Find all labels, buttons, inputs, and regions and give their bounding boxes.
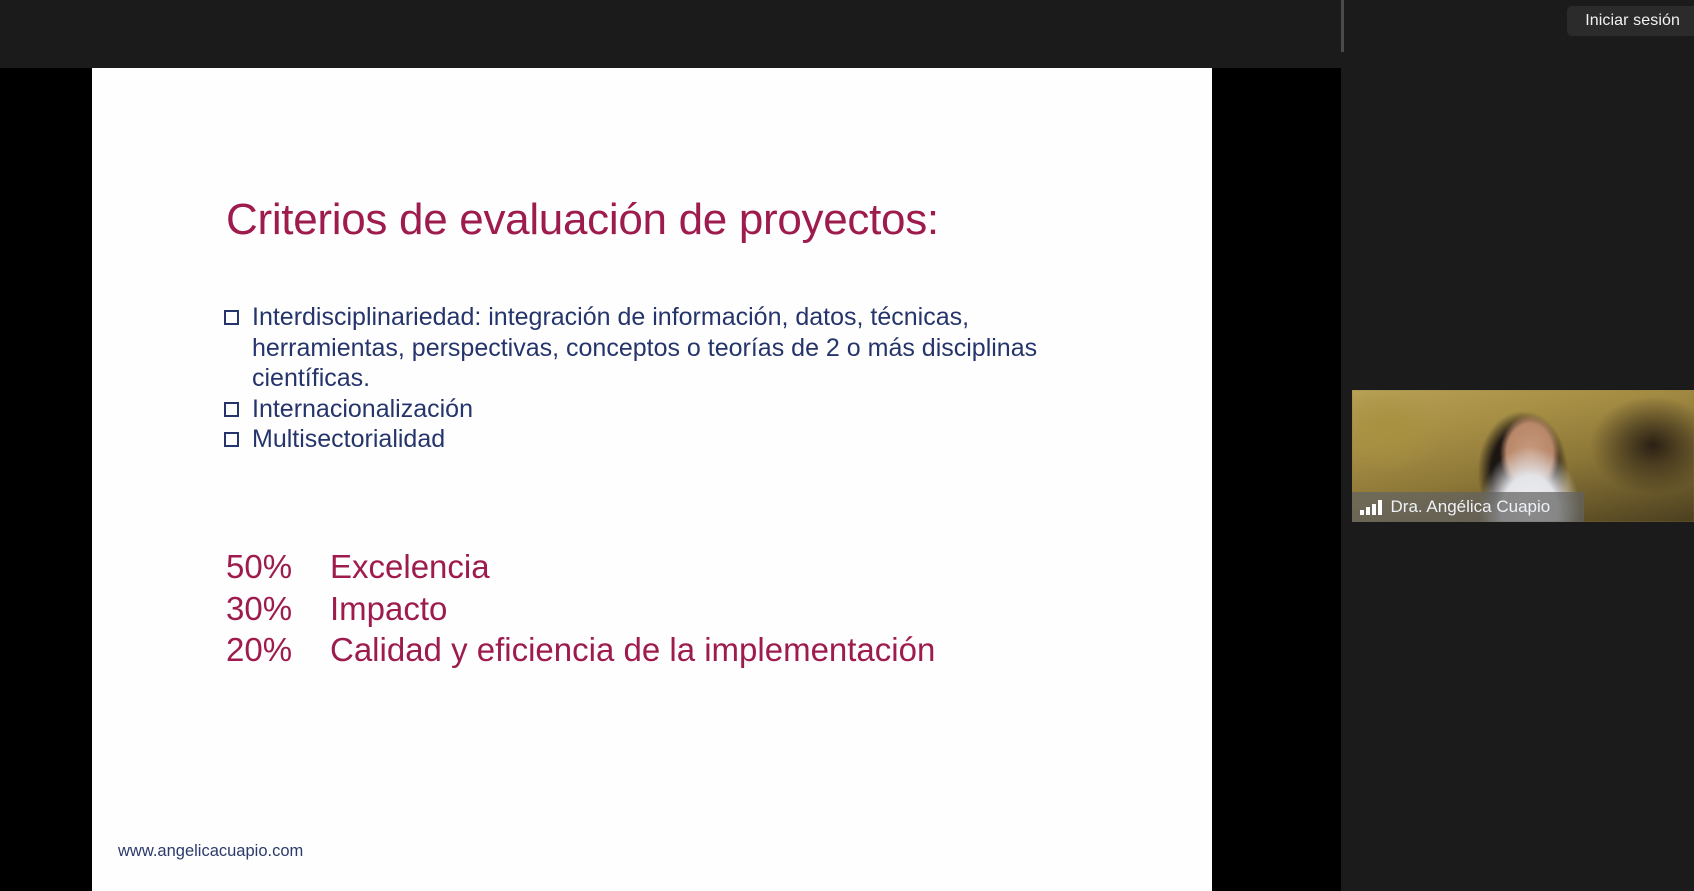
slide-footer-url: www.angelicacuapio.com xyxy=(118,842,303,861)
slide-weight-list: 50% Excelencia 30% Impacto 20% Calidad y… xyxy=(226,546,935,671)
slide-bullet-list: Interdisciplinariedad: integración de in… xyxy=(224,302,1054,455)
checkbox-square-icon xyxy=(224,402,239,417)
weight-label: Impacto xyxy=(330,588,935,630)
checkbox-square-icon xyxy=(224,310,239,325)
list-item-label: Interdisciplinariedad: integración de in… xyxy=(252,302,1054,394)
weight-label: Excelencia xyxy=(330,546,935,588)
weight-label: Calidad y eficiencia de la implementació… xyxy=(330,629,935,671)
participant-name-label: Dra. Angélica Cuapio xyxy=(1391,497,1551,517)
weight-row: 20% Calidad y eficiencia de la implement… xyxy=(226,629,935,671)
weight-percent: 30% xyxy=(226,588,330,630)
shared-slide[interactable]: Criterios de evaluación de proyectos: In… xyxy=(92,68,1212,891)
checkbox-square-icon xyxy=(224,432,239,447)
signal-bars-icon xyxy=(1360,500,1382,515)
list-item: Multisectorialidad xyxy=(224,424,1054,455)
slide-title: Criterios de evaluación de proyectos: xyxy=(226,195,939,245)
list-item-label: Internacionalización xyxy=(252,394,1054,425)
sign-in-button[interactable]: Iniciar sesión xyxy=(1567,6,1694,36)
panel-divider xyxy=(1341,0,1344,52)
meeting-window: Criterios de evaluación de proyectos: In… xyxy=(0,0,1694,891)
weight-percent: 20% xyxy=(226,629,330,671)
participant-name-badge: Dra. Angélica Cuapio xyxy=(1352,492,1584,522)
weight-percent: 50% xyxy=(226,546,330,588)
participant-video-tile[interactable]: Dra. Angélica Cuapio xyxy=(1352,390,1694,522)
list-item: Interdisciplinariedad: integración de in… xyxy=(224,302,1054,394)
list-item: Internacionalización xyxy=(224,394,1054,425)
list-item-label: Multisectorialidad xyxy=(252,424,1054,455)
weight-row: 50% Excelencia xyxy=(226,546,935,588)
weight-row: 30% Impacto xyxy=(226,588,935,630)
meeting-top-bar xyxy=(0,0,1341,68)
